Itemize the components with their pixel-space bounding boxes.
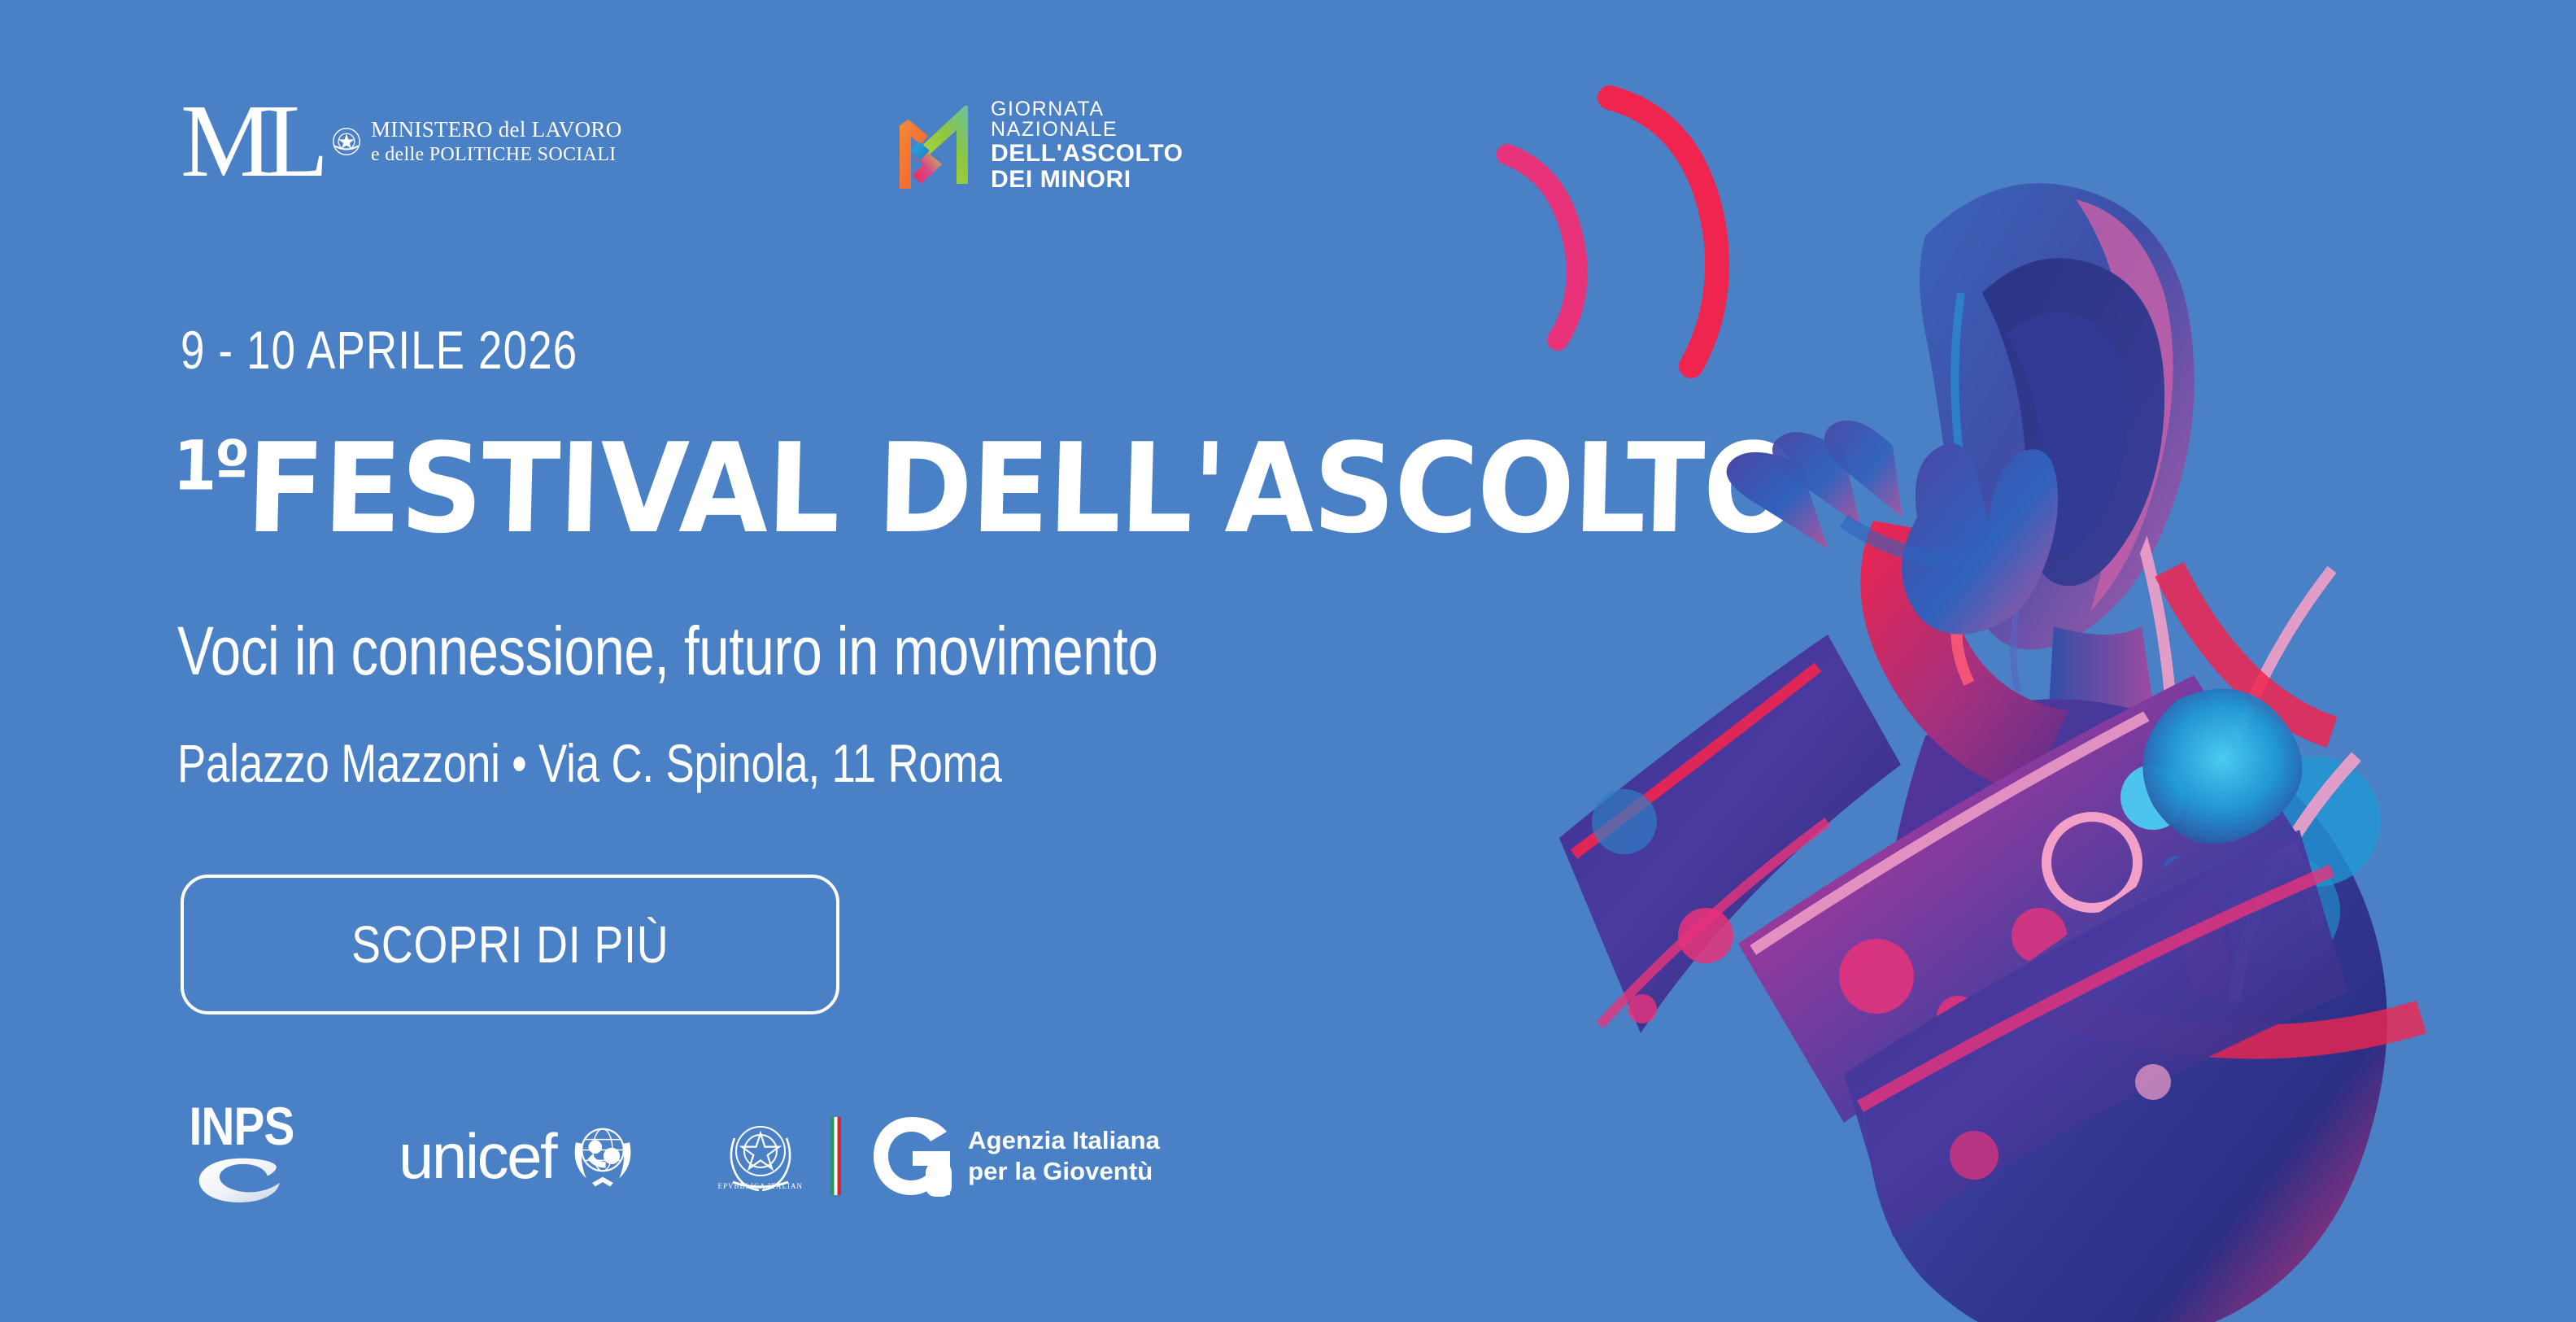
unicef-wordmark: unicef bbox=[399, 1128, 556, 1185]
event-date: 9 - 10 APRILE 2026 bbox=[181, 319, 578, 381]
partner-logos: INPS unicef bbox=[181, 1102, 1160, 1210]
ministry-logo-mark: ML bbox=[181, 101, 320, 182]
event-subtitle: Voci in connessione, futuro in movimento bbox=[177, 612, 1157, 691]
svg-text:REPVBBLICA ITALIANA: REPVBBLICA ITALIANA bbox=[718, 1182, 803, 1190]
promotional-banner: ML MINISTERO del LAVORO e delle POLITICH… bbox=[0, 0, 2576, 1322]
torso bbox=[1865, 521, 2421, 1322]
raised-arm bbox=[1860, 521, 2068, 797]
campaign-line-3: DELL'ASCOLTO bbox=[991, 142, 1183, 166]
ministry-logo: ML MINISTERO del LAVORO e delle POLITICH… bbox=[181, 96, 622, 177]
campaign-line-2: NAZIONALE bbox=[991, 120, 1183, 140]
inps-logo: INPS bbox=[181, 1102, 303, 1210]
campaign-logo: GIORNATA NAZIONALE DELL'ASCOLTO DEI MINO… bbox=[895, 99, 1183, 192]
italian-republic-emblem-icon bbox=[332, 127, 361, 156]
unicef-emblem-icon bbox=[565, 1117, 640, 1196]
inps-ellipse-icon bbox=[196, 1155, 287, 1210]
ministry-line-2: e delle POLITICHE SOCIALI bbox=[371, 144, 616, 165]
agenzia-g-icon bbox=[869, 1114, 953, 1198]
campaign-line-4: DEI MINORI bbox=[991, 168, 1183, 192]
agenzia-line-2: per la Gioventù bbox=[968, 1157, 1153, 1185]
page-title: 1ºFESTIVAL DELL'ASCOLTO bbox=[171, 417, 1801, 561]
italian-republic-logo: REPVBBLICA ITALIANA Agenzia Italiana per… bbox=[718, 1110, 1160, 1202]
event-venue: Palazzo Mazzoni • Via C. Spinola, 11 Rom… bbox=[177, 732, 1002, 794]
campaign-line-1: GIORNATA bbox=[991, 99, 1183, 120]
sound-wave-icon bbox=[1507, 98, 1717, 366]
neck bbox=[2046, 626, 2160, 771]
discover-more-label: SCOPRI DI PIÙ bbox=[351, 914, 669, 975]
seated-figure-with-ear-head-illustration bbox=[1356, 0, 2576, 1322]
unicef-logo: unicef bbox=[399, 1117, 640, 1196]
giornata-nazionale-arrows-icon bbox=[895, 101, 973, 190]
ear-head bbox=[1920, 183, 2195, 692]
page-title-main: FESTIVAL DELL'ASCOLTO bbox=[245, 417, 1801, 561]
legs bbox=[1559, 635, 2348, 1237]
italian-republic-emblem-icon: REPVBBLICA ITALIANA bbox=[718, 1110, 803, 1202]
agenzia-line-1: Agenzia Italiana bbox=[968, 1126, 1160, 1154]
discover-more-button[interactable]: SCOPRI DI PIÙ bbox=[181, 875, 839, 1014]
agenzia-logo: Agenzia Italiana per la Gioventù bbox=[869, 1114, 1160, 1198]
ministry-line-1: MINISTERO del LAVORO bbox=[371, 117, 622, 142]
inps-wordmark: INPS bbox=[189, 1102, 294, 1150]
page-title-ordinal: 1º bbox=[172, 425, 247, 505]
italian-tricolor-icon bbox=[830, 1117, 841, 1195]
